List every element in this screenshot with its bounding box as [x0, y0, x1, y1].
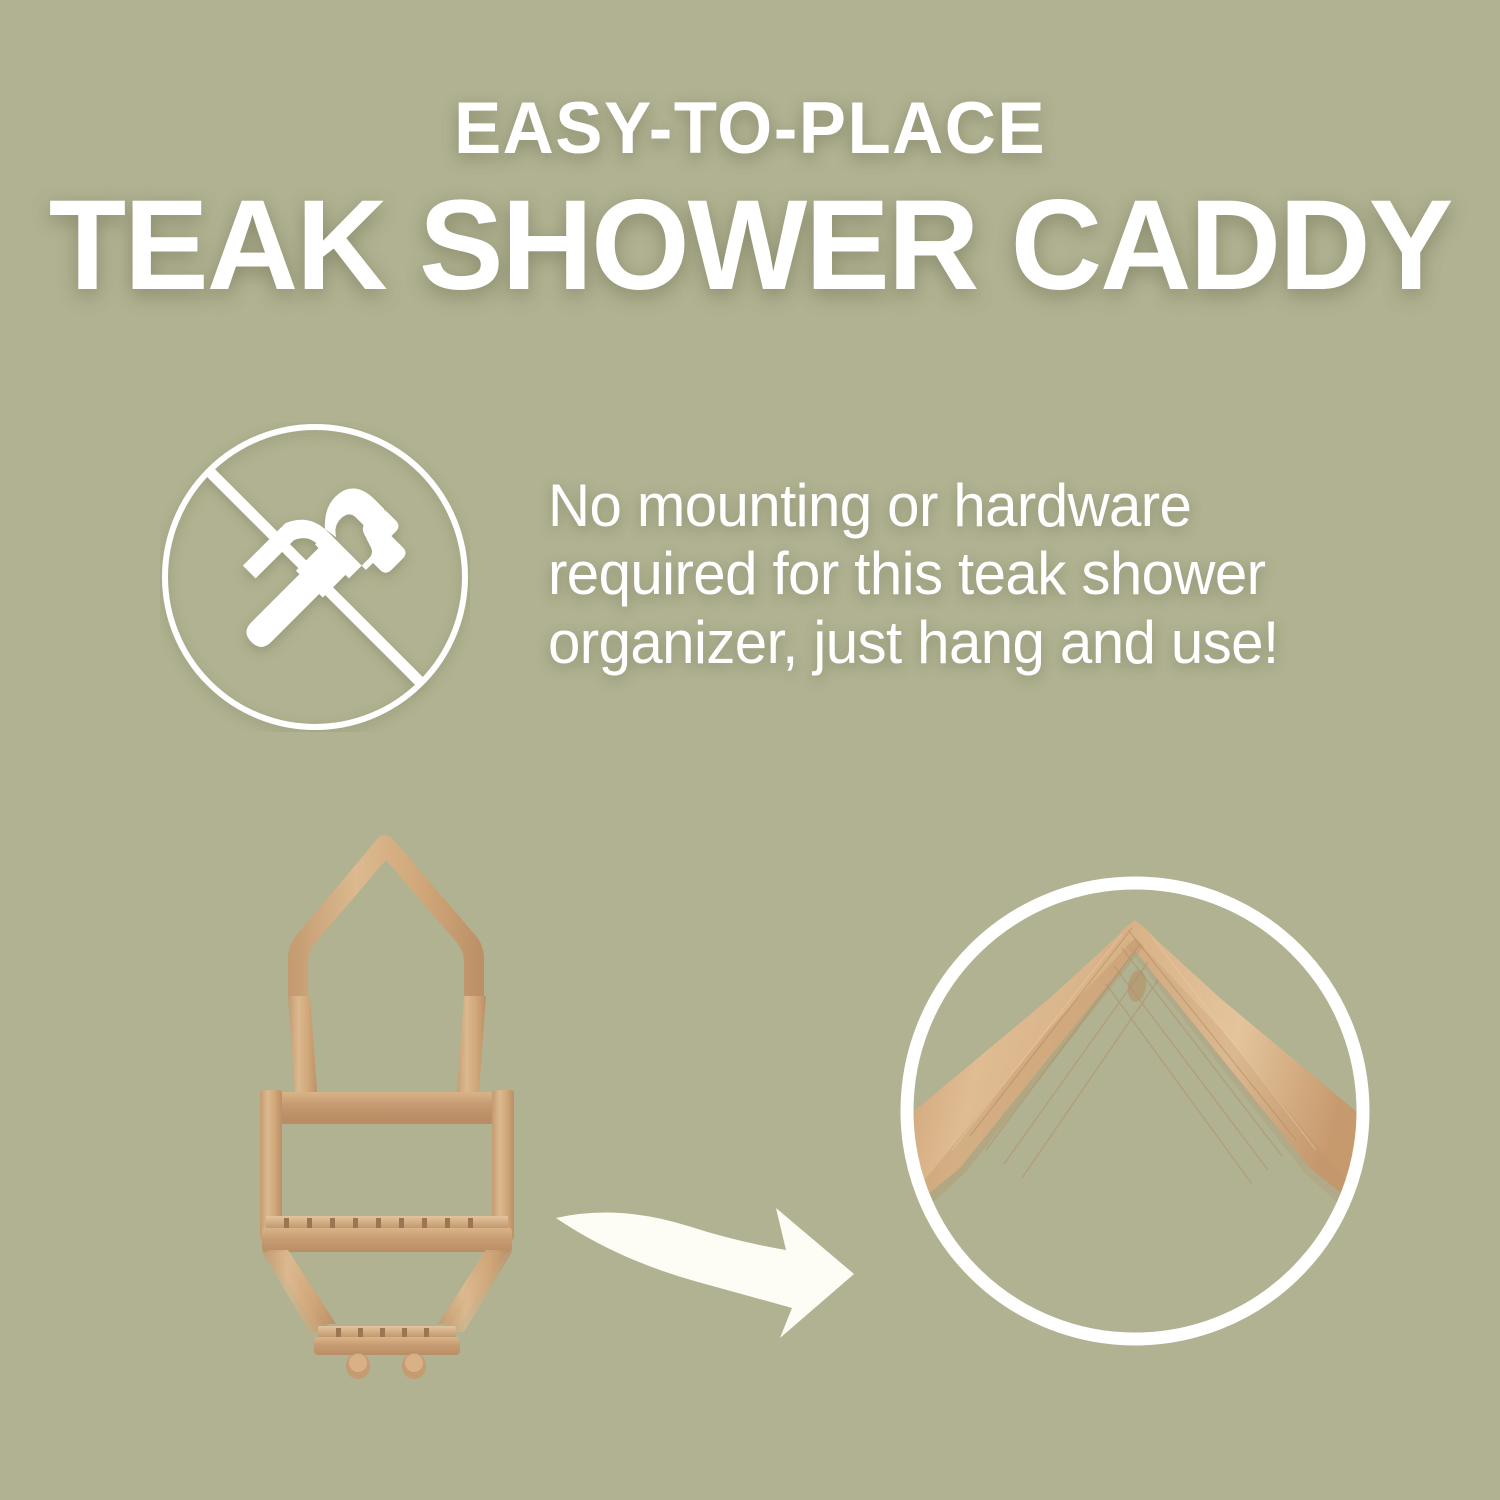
eyebrow-title: EASY-TO-PLACE — [23, 92, 1478, 165]
no-hammer-icon — [160, 422, 470, 732]
feature-row: No mounting or hardware required for thi… — [0, 410, 1500, 740]
feature-description: No mounting or hardware required for thi… — [548, 472, 1411, 677]
product-feature-image: EASY-TO-PLACE TEAK SHOWER CADDY — [0, 0, 1500, 1500]
page-title: TEAK SHOWER CADDY — [8, 182, 1493, 310]
curved-arrow-icon — [548, 1178, 868, 1358]
teak-shower-caddy-photo — [232, 832, 542, 1392]
apex-joint-detail-circle — [900, 868, 1370, 1358]
